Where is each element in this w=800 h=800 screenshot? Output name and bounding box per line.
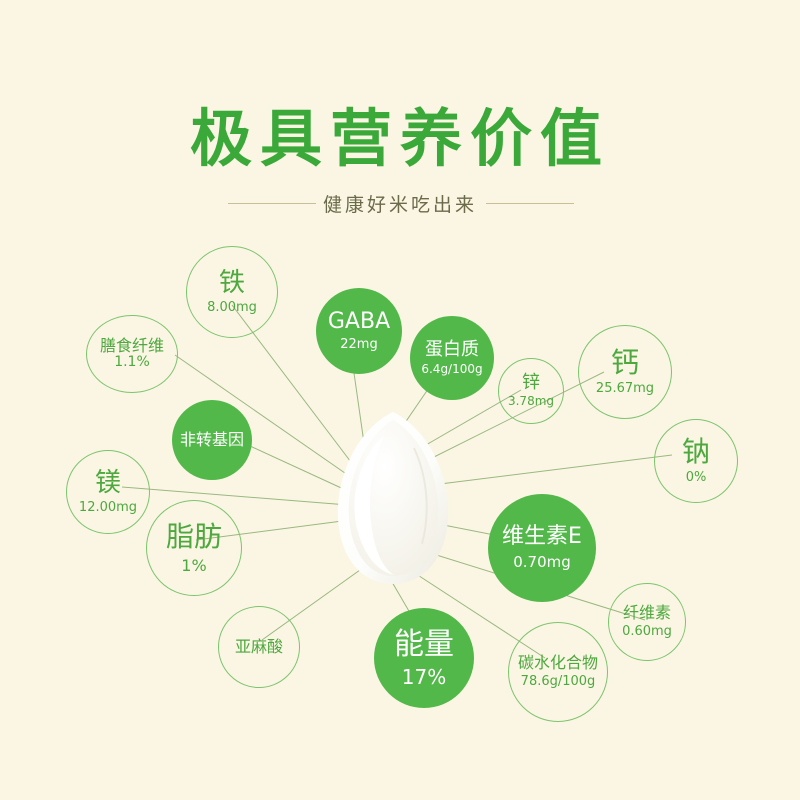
node-linolenic-acid-name: 亚麻酸 bbox=[235, 638, 283, 656]
node-iron-name: 铁 bbox=[219, 269, 245, 298]
node-fat-name: 脂肪 bbox=[166, 521, 222, 552]
node-linolenic-acid[interactable]: 亚麻酸 bbox=[218, 606, 300, 688]
node-magnesium-value: 12.00mg bbox=[79, 501, 137, 516]
node-carbohydrate[interactable]: 碳水化合物 78.6g/100g bbox=[508, 622, 608, 722]
node-non-gmo-name: 非转基因 bbox=[180, 431, 244, 449]
node-carbohydrate-name: 碳水化合物 bbox=[518, 654, 598, 672]
node-magnesium-name: 镁 bbox=[95, 469, 121, 498]
node-fat-value: 1% bbox=[181, 557, 206, 575]
node-zinc-value: 3.78mg bbox=[508, 395, 554, 408]
node-calcium-name: 钙 bbox=[611, 347, 639, 378]
nutrition-infographic: 极具营养价值 健康好米吃出来 bbox=[0, 0, 800, 800]
node-protein[interactable]: 蛋白质 6.4g/100g bbox=[410, 316, 494, 400]
node-cellulose[interactable]: 纤维素 0.60mg bbox=[608, 583, 686, 661]
rice-grain-icon bbox=[318, 408, 468, 588]
node-zinc[interactable]: 锌 3.78mg bbox=[498, 358, 564, 424]
node-cellulose-value: 0.60mg bbox=[622, 625, 672, 640]
node-gaba-name: GABA bbox=[328, 310, 390, 335]
node-iron-value: 8.00mg bbox=[207, 301, 257, 316]
node-protein-value: 6.4g/100g bbox=[421, 363, 482, 376]
node-iron[interactable]: 铁 8.00mg bbox=[186, 246, 278, 338]
node-calcium[interactable]: 钙 25.67mg bbox=[578, 325, 672, 419]
node-cellulose-name: 纤维素 bbox=[623, 604, 671, 622]
node-magnesium[interactable]: 镁 12.00mg bbox=[66, 450, 150, 534]
node-vitamin-e-name: 维生素E bbox=[502, 525, 582, 550]
node-vitamin-e[interactable]: 维生素E 0.70mg bbox=[488, 494, 596, 602]
node-sodium[interactable]: 钠 0% bbox=[654, 419, 738, 503]
node-dietary-fiber[interactable]: 膳食纤维 1.1% bbox=[86, 315, 178, 393]
node-sodium-name: 钠 bbox=[682, 436, 710, 467]
node-protein-name: 蛋白质 bbox=[425, 340, 479, 360]
node-gaba[interactable]: GABA 22mg bbox=[316, 288, 402, 374]
node-fat[interactable]: 脂肪 1% bbox=[146, 500, 242, 596]
node-zinc-name: 锌 bbox=[522, 373, 540, 393]
node-energy[interactable]: 能量 17% bbox=[374, 608, 474, 708]
node-dietary-fiber-value: 1.1% bbox=[114, 355, 150, 371]
node-energy-value: 17% bbox=[402, 666, 446, 688]
node-calcium-value: 25.67mg bbox=[596, 382, 654, 397]
node-vitamin-e-value: 0.70mg bbox=[513, 554, 571, 571]
node-carbohydrate-value: 78.6g/100g bbox=[521, 675, 596, 690]
node-gaba-value: 22mg bbox=[340, 338, 377, 353]
node-dietary-fiber-name: 膳食纤维 bbox=[100, 337, 164, 355]
node-sodium-value: 0% bbox=[686, 471, 707, 486]
node-energy-name: 能量 bbox=[394, 628, 454, 662]
node-non-gmo[interactable]: 非转基因 bbox=[172, 400, 252, 480]
